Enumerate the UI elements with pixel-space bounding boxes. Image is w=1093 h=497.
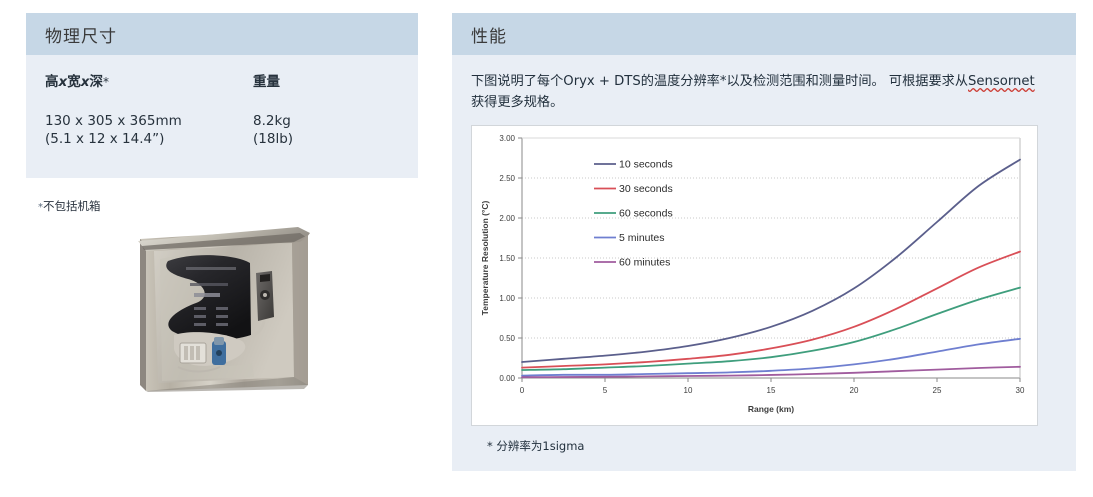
x-tick-label: 20 xyxy=(850,386,859,395)
chart-canvas: 0.000.501.001.502.002.503.00 05101520253… xyxy=(472,126,1037,425)
physical-dimensions-panel-body: 高x宽x深* 重量 130 x 305 x 365mm (5.1 x 12 x … xyxy=(26,55,418,178)
table-header-row: 高x宽x深* 重量 xyxy=(45,73,399,112)
y-tick-label: 1.00 xyxy=(499,294,515,303)
legend-label: 60 seconds xyxy=(619,208,673,220)
x-tick-label: 15 xyxy=(767,386,776,395)
dimensions-value-inches: (5.1 x 12 x 14.4”) xyxy=(45,130,253,148)
chart-y-axis-label: Temperature Resolution (°C) xyxy=(480,200,490,315)
cell-dimensions: 130 x 305 x 365mm (5.1 x 12 x 14.4”) xyxy=(45,112,253,148)
page-title: 物理尺寸 xyxy=(45,27,117,47)
footnote-text: 不包括机箱 xyxy=(43,199,101,213)
chart-footnote: * 分辨率为1sigma xyxy=(471,438,1054,454)
legend-label: 60 minutes xyxy=(619,257,670,269)
performance-title: 性能 xyxy=(471,27,507,47)
performance-panel-header: 性能 xyxy=(452,13,1076,55)
description-part-2: 获得更多规格。 xyxy=(471,95,563,110)
physical-dimensions-panel: 物理尺寸 高x宽x深* 重量 130 x 305 x 365mm (5.1 x … xyxy=(26,13,418,178)
column-header-weight: 重量 xyxy=(253,73,399,112)
description-part-1: 下图说明了每个Oryx + DTS的温度分辨率*以及检测范围和测量时间。 可根据… xyxy=(471,74,968,89)
legend-label: 30 seconds xyxy=(619,183,673,195)
y-tick-label: 3.00 xyxy=(499,134,515,143)
weight-value-kg: 8.2kg xyxy=(253,113,291,129)
performance-panel: 性能 下图说明了每个Oryx + DTS的温度分辨率*以及检测范围和测量时间。 … xyxy=(452,13,1076,471)
y-tick-label: 1.50 xyxy=(499,254,515,263)
dimensions-footnote: *不包括机箱 xyxy=(38,198,101,214)
y-tick-label: 0.50 xyxy=(499,334,515,343)
x-tick-label: 5 xyxy=(603,386,608,395)
legend-label: 5 minutes xyxy=(619,232,665,244)
y-tick-label: 2.50 xyxy=(499,174,515,183)
chart-x-ticks: 051015202530 xyxy=(520,378,1025,395)
physical-dimensions-panel-header: 物理尺寸 xyxy=(26,13,418,55)
x-tick-label: 30 xyxy=(1016,386,1025,395)
dimensions-value-mm: 130 x 305 x 365mm xyxy=(45,113,182,129)
cell-weight: 8.2kg (18lb) xyxy=(253,112,399,148)
product-photo xyxy=(132,217,314,392)
chart-x-axis-label: Range (km) xyxy=(748,404,794,414)
x-tick-label: 25 xyxy=(933,386,942,395)
legend-label: 10 seconds xyxy=(619,159,673,171)
x-tick-label: 10 xyxy=(684,386,693,395)
series-line xyxy=(522,160,1020,362)
dimensions-table: 高x宽x深* 重量 130 x 305 x 365mm (5.1 x 12 x … xyxy=(45,73,399,148)
y-tick-label: 2.00 xyxy=(499,214,515,223)
x-tick-label: 0 xyxy=(520,386,525,395)
table-row: 130 x 305 x 365mm (5.1 x 12 x 14.4”) 8.2… xyxy=(45,112,399,148)
series-line xyxy=(522,288,1020,370)
chart-legend: 10 seconds30 seconds60 seconds5 minutes6… xyxy=(594,159,673,269)
weight-value-lb: (18lb) xyxy=(253,130,399,148)
chart-series xyxy=(522,160,1020,378)
temperature-resolution-chart: 0.000.501.001.502.002.503.00 05101520253… xyxy=(471,125,1038,426)
performance-description: 下图说明了每个Oryx + DTS的温度分辨率*以及检测范围和测量时间。 可根据… xyxy=(471,71,1041,113)
product-photo-image xyxy=(132,217,314,392)
performance-panel-body: 下图说明了每个Oryx + DTS的温度分辨率*以及检测范围和测量时间。 可根据… xyxy=(452,55,1076,471)
chart-y-ticks: 0.000.501.001.502.002.503.00 xyxy=(499,134,522,383)
y-tick-label: 0.00 xyxy=(499,374,515,383)
description-brand-name: Sensornet xyxy=(968,74,1035,89)
column-header-dimensions: 高x宽x深* xyxy=(45,73,253,112)
